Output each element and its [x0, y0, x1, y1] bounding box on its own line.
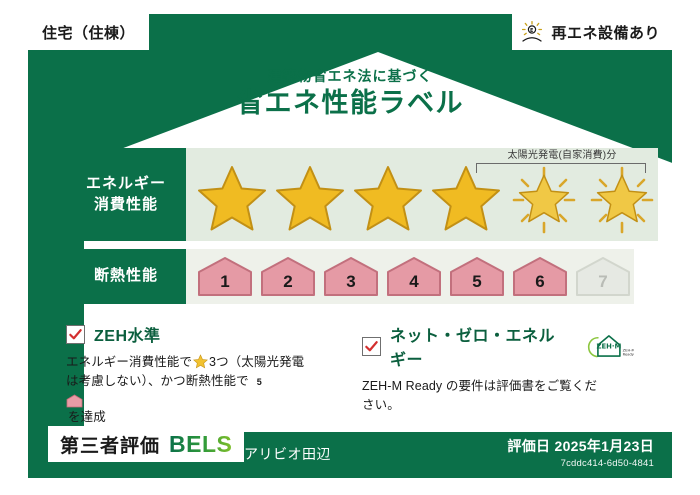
inline-level-house-icon: 5 [66, 394, 338, 408]
energy-key-line2: 消費性能 [94, 195, 158, 215]
insulation-level-6: 6 [511, 255, 569, 298]
solar-annotation-label: 太陽光発電(自家消費)分 [474, 146, 650, 161]
zeh-standard-header: ZEH水準 [66, 322, 338, 346]
evaluation-id: 7cddc414-6d50-4841 [507, 458, 654, 469]
title-subtitle: 建築物省エネ法に基づく [0, 66, 700, 86]
bels-en-label: BELS [169, 431, 232, 458]
net-zero-checkbox[interactable] [362, 337, 381, 356]
star-icon [196, 164, 268, 234]
zeh-body-part1: エネルギー消費性能で [66, 355, 192, 369]
zeh-body-part2: は考慮しない）、かつ断熱性能で [66, 374, 249, 388]
insulation-performance-row: 断熱性能 1234567 [66, 249, 634, 304]
energy-performance-value: 太陽光発電(自家消費)分 [186, 148, 658, 241]
net-zero-body: ZEH-M Ready の要件は評価書をご覧くだ さい。 [362, 377, 634, 416]
insulation-level-number: 4 [409, 272, 418, 292]
insulation-level-3: 3 [322, 255, 380, 298]
bels-jp-label: 第三者評価 [60, 431, 160, 458]
insulation-level-number: 5 [472, 272, 481, 292]
insulation-level-2: 2 [259, 255, 317, 298]
net-zero-title: ネット・ゼロ・エネルギー [390, 322, 571, 370]
inline-star-icon [193, 354, 208, 369]
insulation-level-1: 1 [196, 255, 254, 298]
bels-certification-box: 第三者評価 BELS [48, 426, 244, 462]
energy-star-rating [186, 164, 658, 234]
insulation-performance-value: 1234567 [186, 249, 634, 304]
insulation-level-4: 4 [385, 255, 443, 298]
zeh-m-logo-text: ZEH·M [597, 343, 622, 351]
energy-key-line1: エネルギー [86, 174, 166, 194]
building-type-badge: 住宅（住棟） [28, 14, 149, 50]
energy-performance-key: エネルギー 消費性能 [66, 148, 186, 241]
insulation-level-scale: 1234567 [186, 255, 632, 298]
insulation-level-7: 7 [574, 255, 632, 298]
star-icon-solar [586, 164, 658, 234]
zeh-standard-check: ZEH水準 エネルギー消費性能で3つ（太陽光発電 は考慮しない）、かつ断熱性能で… [66, 322, 338, 429]
zeh-standard-body: エネルギー消費性能で3つ（太陽光発電 は考慮しない）、かつ断熱性能で5を達成 [66, 353, 338, 429]
insulation-level-5: 5 [448, 255, 506, 298]
zeh-body-part3: を達成 [68, 410, 106, 424]
zeh-m-logo-icon: ZEH·M ZEH-M Ready [586, 331, 634, 361]
insulation-level-number: 1 [220, 272, 229, 292]
net-zero-body-line1: ZEH-M Ready の要件は評価書をご覧くだ [362, 379, 597, 393]
solar-annotation-bracket [476, 163, 646, 173]
star-icon [274, 164, 346, 234]
energy-performance-label: 住宅（住棟） E 再エネ設備あり 建築物省エネ法に基づく 省エネ性能ラベル エネ [0, 0, 700, 495]
insulation-level-number: 3 [346, 272, 355, 292]
evaluation-date: 評価日 2025年1月23日 [507, 436, 654, 456]
evaluation-info: 評価日 2025年1月23日 7cddc414-6d50-4841 [507, 436, 654, 469]
house-badge-icon [66, 394, 83, 408]
zeh-body-stars: 3つ（太陽光発電 [209, 355, 304, 369]
insulation-level-number: 7 [598, 272, 607, 292]
insulation-level-number: 6 [535, 272, 544, 292]
zeh-standard-title: ZEH水準 [94, 322, 161, 346]
checkmark-icon [364, 339, 379, 354]
certification-checks: ZEH水準 エネルギー消費性能で3つ（太陽光発電 は考慮しない）、かつ断熱性能で… [66, 322, 634, 429]
zeh-m-logo-sub-line2: Ready [623, 353, 634, 357]
insulation-performance-key: 断熱性能 [66, 249, 186, 304]
renewable-energy-label: 再エネ設備あり [551, 22, 660, 43]
building-name: アリビオ田辺 [244, 444, 331, 464]
zeh-standard-checkbox[interactable] [66, 325, 85, 344]
inline-level-number: 5 [251, 376, 268, 390]
star-icon-solar [508, 164, 580, 234]
title-block: 建築物省エネ法に基づく 省エネ性能ラベル [0, 66, 700, 119]
sun-icon: E [520, 20, 544, 44]
net-zero-header: ネット・ゼロ・エネルギー ZEH·M ZEH-M Ready [362, 322, 634, 370]
insulation-level-number: 2 [283, 272, 292, 292]
star-icon [430, 164, 502, 234]
energy-performance-row: エネルギー 消費性能 太陽光発電(自家消費)分 [66, 148, 634, 241]
footer-bar: 第三者評価 BELS アリビオ田辺 評価日 2025年1月23日 7cddc41… [28, 432, 672, 478]
building-type-label: 住宅（住棟） [42, 22, 135, 43]
checkmark-icon [68, 327, 83, 342]
svg-text:E: E [531, 28, 535, 34]
net-zero-body-line2: さい。 [362, 398, 400, 412]
zeh-m-logo-sub-line1: ZEH-M [623, 348, 634, 352]
insulation-key-label: 断熱性能 [94, 266, 158, 286]
net-zero-energy-check: ネット・ゼロ・エネルギー ZEH·M ZEH-M Ready ZEH-M Rea… [362, 322, 634, 429]
renewable-energy-badge: E 再エネ設備あり [512, 14, 672, 50]
title-main: 省エネ性能ラベル [0, 89, 700, 119]
star-icon [352, 164, 424, 234]
